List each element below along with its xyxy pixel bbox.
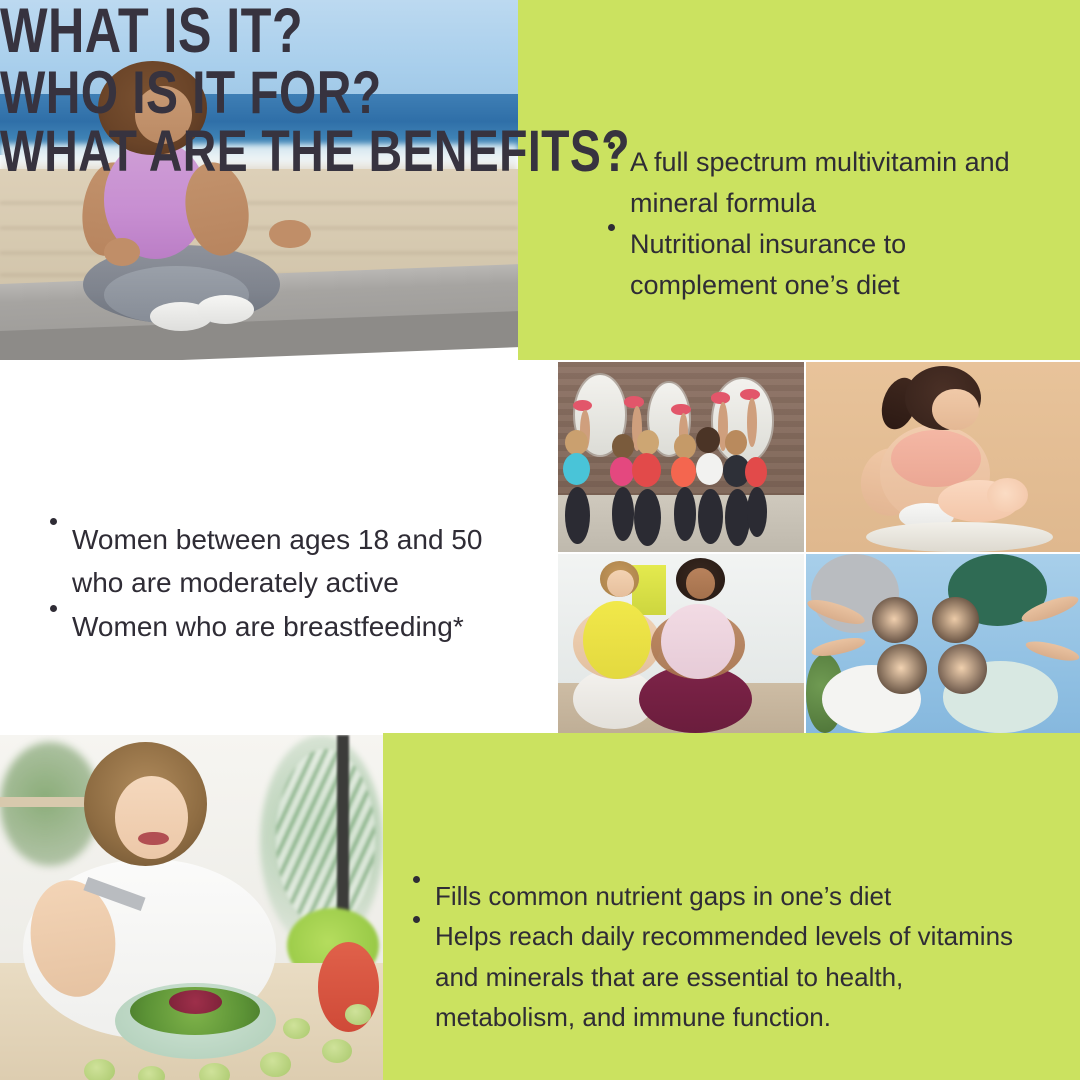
image-gym-class bbox=[558, 362, 804, 552]
section-heading-benefits: WHAT ARE THE BENEFITS? bbox=[0, 123, 864, 181]
section-heading-who-is-it-for: WHO IS IT FOR? bbox=[0, 63, 864, 123]
image-salad-eating bbox=[0, 735, 383, 1080]
image-yoga-pair bbox=[558, 554, 804, 733]
image-breastfeeding bbox=[806, 362, 1080, 552]
list-item: Helps reach daily recommended levels of … bbox=[405, 916, 1025, 1037]
section-heading-what-is-it: WHAT IS IT? bbox=[0, 0, 864, 63]
bullet-list-benefits: Fills common nutrient gaps in one’s diet… bbox=[405, 876, 1025, 1037]
list-item: Women between ages 18 and 50 who are mod… bbox=[42, 518, 512, 605]
infographic-poster: WHAT IS IT? A full spectrum multivitamin… bbox=[0, 0, 1080, 1080]
list-item: Women who are breastfeeding* bbox=[42, 605, 512, 648]
list-item: Nutritional insurance to complement one’… bbox=[600, 224, 1030, 306]
image-friends-huddle bbox=[806, 554, 1080, 733]
list-item: Fills common nutrient gaps in one’s diet bbox=[405, 876, 1025, 916]
bullet-list-who-is-it-for: Women between ages 18 and 50 who are mod… bbox=[42, 518, 512, 648]
